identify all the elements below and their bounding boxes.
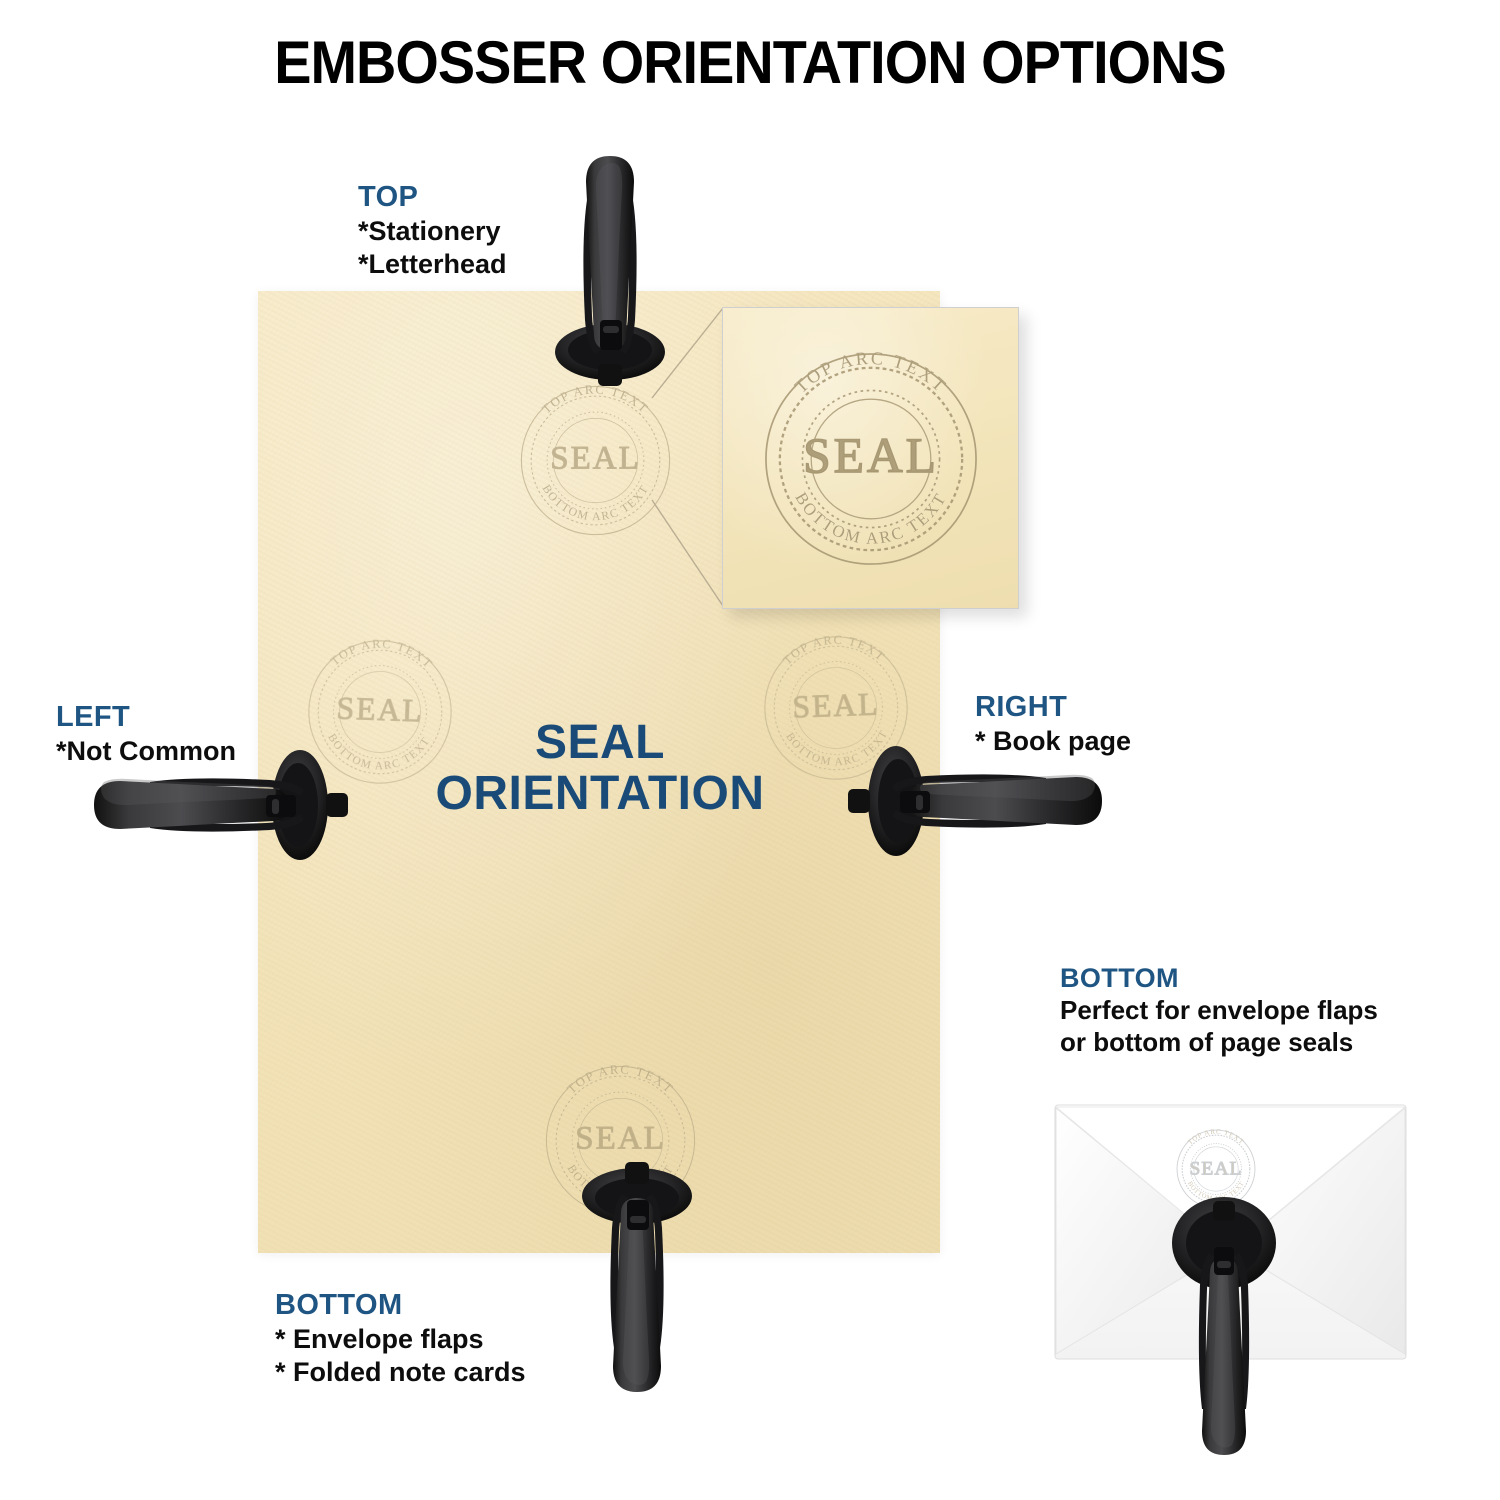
svg-text:TOP ARC TEXT: TOP ARC TEXT <box>779 631 888 668</box>
label-bottom-paper: BOTTOM * Envelope flaps * Folded note ca… <box>275 1288 526 1389</box>
label-bottom-envelope-line-2: or bottom of page seals <box>1060 1027 1378 1059</box>
label-right-line-1: * Book page <box>975 725 1131 758</box>
seal-top-arc-text: TOP ARC TEXT <box>540 382 652 416</box>
label-bottom-paper-head: BOTTOM <box>275 1288 526 1323</box>
label-bottom-envelope-line-1: Perfect for envelope flaps <box>1060 995 1378 1027</box>
label-left-line-1: *Not Common <box>56 735 236 768</box>
seal-top-arc-text: TOP ARC TEXT <box>1186 1128 1246 1147</box>
label-top-line-2: *Letterhead <box>358 248 507 281</box>
seal-top-arc-text: TOP ARC TEXT <box>327 635 436 672</box>
seal-top-arc-text: TOP ARC TEXT <box>565 1062 677 1096</box>
label-bottom-paper-line-2: * Folded note cards <box>275 1356 526 1389</box>
diagram-canvas: EMBOSSER ORIENTATION OPTIONS TOP ARC TEX… <box>0 0 1500 1500</box>
center-caption: SEAL ORIENTATION <box>360 718 840 820</box>
svg-text:TOP ARC TEXT: TOP ARC TEXT <box>565 1062 677 1096</box>
center-caption-line1: SEAL <box>360 718 840 769</box>
svg-text:TOP ARC TEXT: TOP ARC TEXT <box>791 348 952 397</box>
seal-impression-top: TOP ARC TEXT BOTTOM ARC TEXT SEAL <box>508 373 683 548</box>
label-top-head: TOP <box>358 180 507 215</box>
svg-text:TOP ARC TEXT: TOP ARC TEXT <box>327 635 436 672</box>
label-left: LEFT *Not Common <box>56 700 236 768</box>
label-bottom-envelope-head: BOTTOM <box>1060 962 1378 995</box>
embosser-right[interactable] <box>846 746 1108 856</box>
embosser-top[interactable] <box>545 152 675 387</box>
page-title: EMBOSSER ORIENTATION OPTIONS <box>53 28 1448 97</box>
svg-text:TOP ARC TEXT: TOP ARC TEXT <box>540 382 652 416</box>
magnified-seal-panel: TOP ARC TEXT BOTTOM ARC TEXT SEAL <box>722 307 1019 609</box>
seal-center-text: SEAL <box>550 441 641 477</box>
seal-center-text: SEAL <box>803 428 939 483</box>
label-top: TOP *Stationery *Letterhead <box>358 180 507 281</box>
embosser-envelope[interactable] <box>1164 1195 1284 1460</box>
center-caption-line2: ORIENTATION <box>360 769 840 820</box>
label-top-line-1: *Stationery <box>358 215 507 248</box>
seal-impression-magnified: TOP ARC TEXT BOTTOM ARC TEXT SEAL <box>747 335 995 583</box>
label-bottom-paper-line-1: * Envelope flaps <box>275 1323 526 1356</box>
seal-top-arc-text: TOP ARC TEXT <box>791 348 952 397</box>
svg-text:TOP ARC TEXT: TOP ARC TEXT <box>1186 1128 1246 1147</box>
label-right: RIGHT * Book page <box>975 690 1131 758</box>
embosser-bottom-paper[interactable] <box>572 1148 702 1398</box>
label-right-head: RIGHT <box>975 690 1131 725</box>
label-bottom-envelope: BOTTOM Perfect for envelope flaps or bot… <box>1060 962 1378 1058</box>
seal-top-arc-text: TOP ARC TEXT <box>779 631 888 668</box>
seal-center-text: SEAL <box>1189 1158 1242 1179</box>
label-left-head: LEFT <box>56 700 236 735</box>
